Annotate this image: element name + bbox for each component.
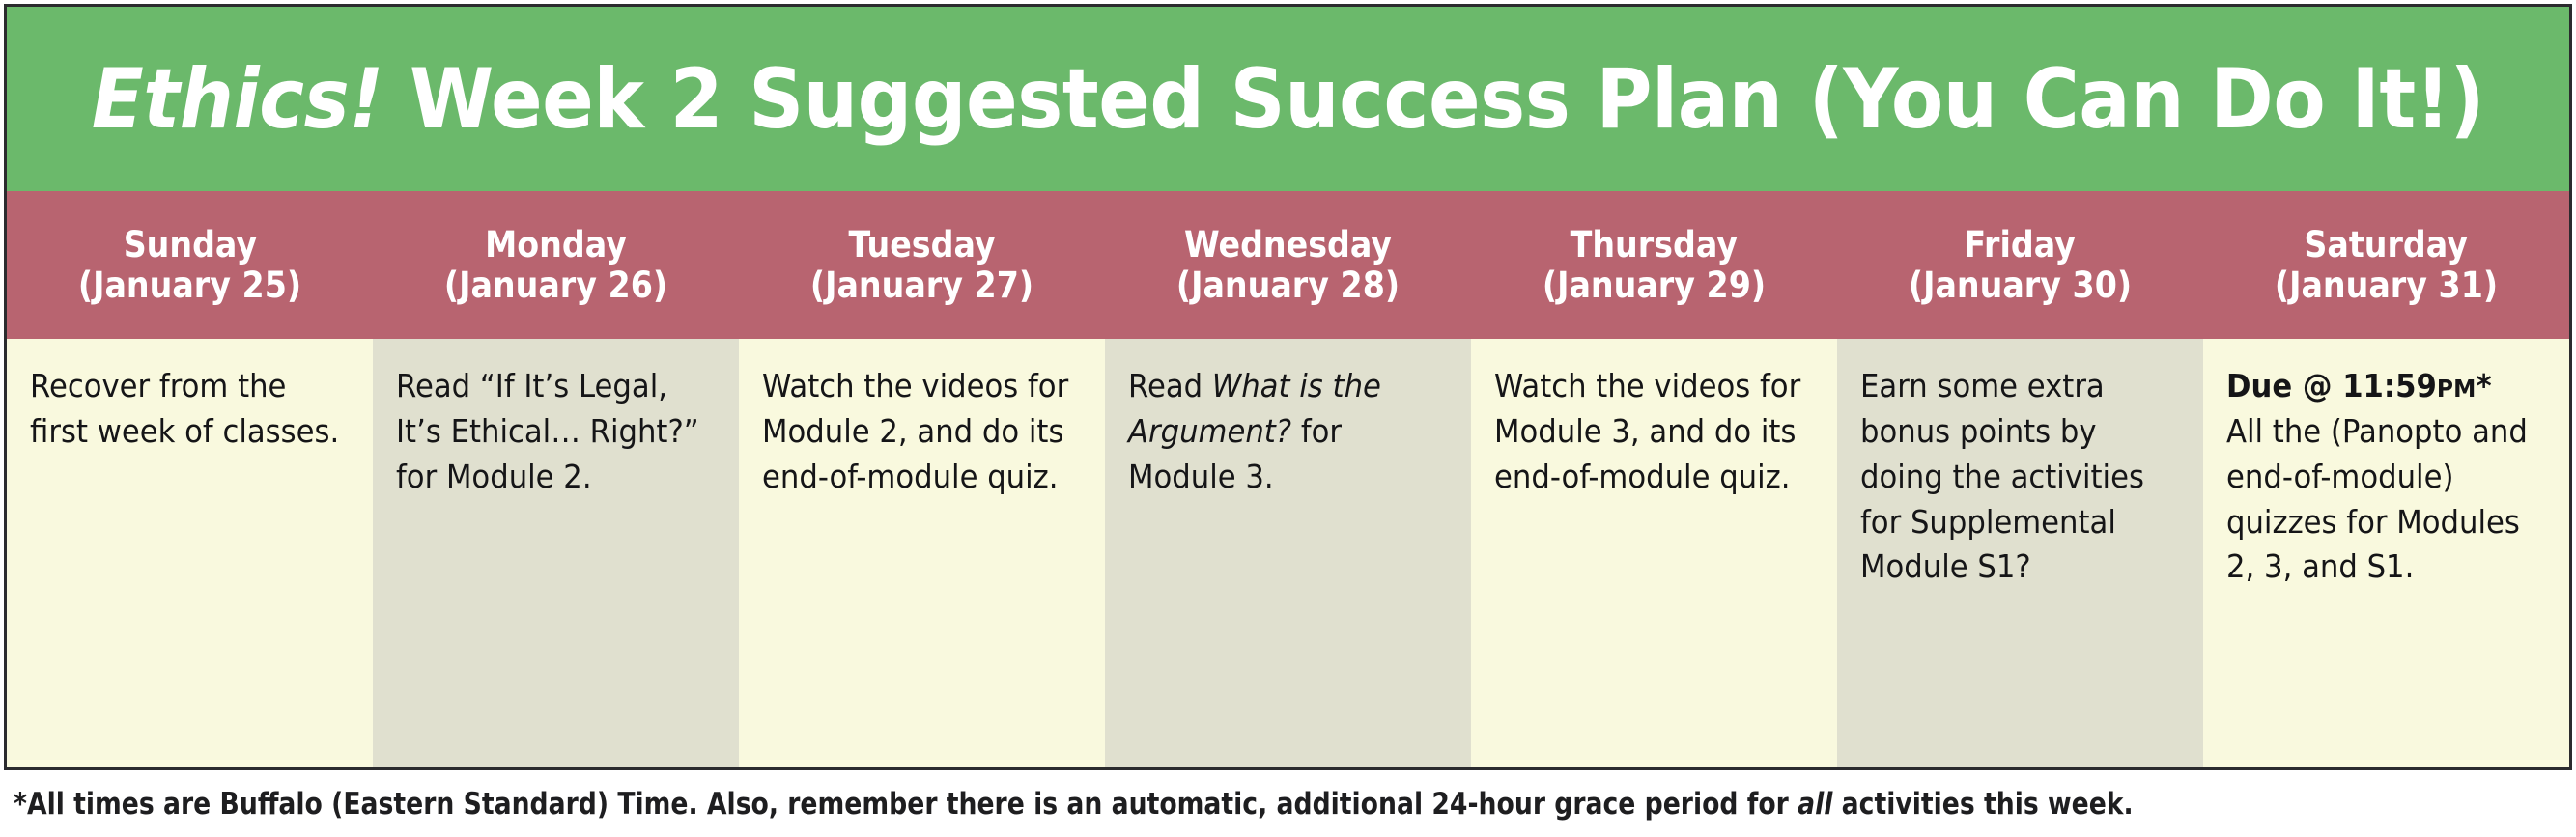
task-text: Read “If It’s Legal, It’s Ethical… Right… bbox=[396, 364, 714, 500]
due-badge: Due @ 11:59PM* bbox=[2226, 364, 2544, 409]
footnote-suffix: activities this week. bbox=[1832, 787, 2133, 822]
task-text: Watch the videos for Module 2, and do it… bbox=[762, 364, 1080, 500]
task-text-prefix: Read bbox=[1128, 367, 1212, 405]
day-date: (January 30) bbox=[1909, 265, 2132, 305]
day-date: (January 27) bbox=[810, 265, 1033, 305]
task-cell-tuesday: Watch the videos for Module 2, and do it… bbox=[739, 339, 1105, 767]
task-text: Due @ 11:59PM*All the (Panopto and end-o… bbox=[2226, 364, 2544, 590]
due-label: Due @ 11:59 bbox=[2226, 367, 2437, 405]
page-title: Ethics! Week 2 Suggested Success Plan (Y… bbox=[92, 58, 2484, 141]
day-name: Tuesday bbox=[848, 225, 995, 265]
task-cell-wednesday: Read What is the Argument? for Module 3. bbox=[1105, 339, 1471, 767]
day-header-tuesday: Tuesday (January 27) bbox=[739, 191, 1105, 339]
task-text-main: Recover from the first week of classes. bbox=[30, 367, 339, 450]
day-name: Friday bbox=[1965, 225, 2076, 265]
day-name: Saturday bbox=[2305, 225, 2468, 265]
day-header-sunday: Sunday (January 25) bbox=[7, 191, 373, 339]
day-header-monday: Monday (January 26) bbox=[373, 191, 739, 339]
day-date: (January 25) bbox=[78, 265, 301, 305]
day-name: Monday bbox=[485, 225, 627, 265]
day-header-wednesday: Wednesday (January 28) bbox=[1105, 191, 1471, 339]
day-name: Wednesday bbox=[1184, 225, 1392, 265]
title-banner: Ethics! Week 2 Suggested Success Plan (Y… bbox=[7, 7, 2569, 191]
task-cell-thursday: Watch the videos for Module 3, and do it… bbox=[1471, 339, 1837, 767]
title-rest: Week 2 Suggested Success Plan (You Can D… bbox=[383, 51, 2484, 148]
task-text-main: Earn some extra bonus points by doing th… bbox=[1860, 367, 2144, 585]
task-text-main: All the (Panopto and end-of-module) quiz… bbox=[2226, 412, 2528, 586]
task-cells-row: Recover from the first week of classes. … bbox=[7, 339, 2569, 767]
task-text-main: Watch the videos for Module 3, and do it… bbox=[1494, 367, 1800, 495]
day-header-row: Sunday (January 25) Monday (January 26) … bbox=[7, 191, 2569, 339]
success-plan-infographic: Ethics! Week 2 Suggested Success Plan (Y… bbox=[0, 0, 2576, 837]
footnote-emphasis: all bbox=[1798, 787, 1832, 822]
task-text-main: Read “If It’s Legal, It’s Ethical… Right… bbox=[396, 367, 699, 495]
task-cell-friday: Earn some extra bonus points by doing th… bbox=[1837, 339, 2203, 767]
day-name: Thursday bbox=[1571, 225, 1738, 265]
day-header-friday: Friday (January 30) bbox=[1837, 191, 2203, 339]
day-header-thursday: Thursday (January 29) bbox=[1471, 191, 1837, 339]
day-name: Sunday bbox=[123, 225, 256, 265]
task-text: Recover from the first week of classes. bbox=[30, 364, 348, 455]
task-text: Watch the videos for Module 3, and do it… bbox=[1494, 364, 1812, 500]
day-date: (January 26) bbox=[444, 265, 667, 305]
task-cell-saturday: Due @ 11:59PM*All the (Panopto and end-o… bbox=[2203, 339, 2569, 767]
day-date: (January 28) bbox=[1176, 265, 1400, 305]
due-meridiem: PM bbox=[2437, 375, 2477, 403]
task-cell-monday: Read “If It’s Legal, It’s Ethical… Right… bbox=[373, 339, 739, 767]
task-text: Read What is the Argument? for Module 3. bbox=[1128, 364, 1446, 500]
task-text-main: Watch the videos for Module 2, and do it… bbox=[762, 367, 1068, 495]
footnote: *All times are Buffalo (Eastern Standard… bbox=[14, 788, 2206, 821]
task-text: Earn some extra bonus points by doing th… bbox=[1860, 364, 2178, 590]
day-header-saturday: Saturday (January 31) bbox=[2203, 191, 2569, 339]
day-date: (January 29) bbox=[1543, 265, 1766, 305]
day-date: (January 31) bbox=[2275, 265, 2498, 305]
weekly-plan-table: Ethics! Week 2 Suggested Success Plan (Y… bbox=[4, 4, 2572, 770]
title-emphasis: Ethics! bbox=[92, 51, 383, 148]
due-asterisk: * bbox=[2477, 367, 2492, 405]
footnote-prefix: *All times are Buffalo (Eastern Standard… bbox=[14, 787, 1798, 822]
task-cell-sunday: Recover from the first week of classes. bbox=[7, 339, 373, 767]
